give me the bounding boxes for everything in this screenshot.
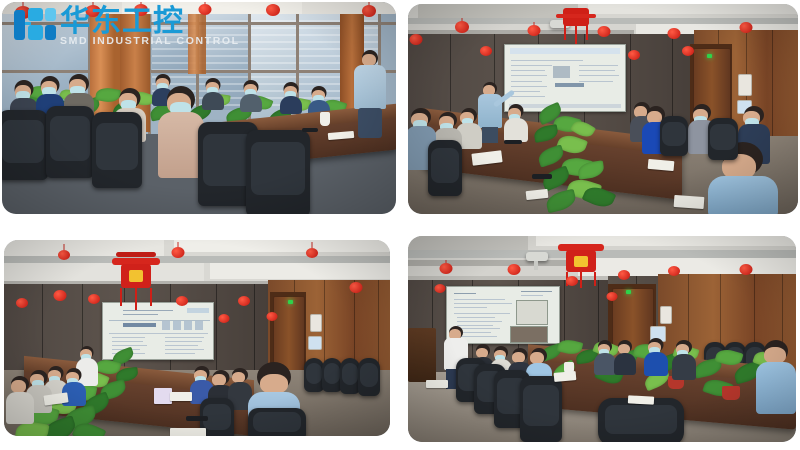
lantern-icon [348, 282, 364, 302]
lantern-icon [680, 46, 696, 66]
panel-bottom-left[interactable] [4, 240, 390, 436]
lantern-icon [408, 34, 424, 54]
lantern-icon [626, 50, 642, 70]
person [614, 340, 636, 374]
lantern-icon [56, 244, 72, 268]
lantern-icon [616, 270, 632, 290]
chandelier-decoration [554, 4, 598, 46]
panel-top-right-scene [408, 4, 798, 214]
microphone [302, 128, 318, 132]
office-chair [248, 408, 306, 436]
lantern-icon [506, 264, 522, 286]
lantern-icon [454, 18, 470, 40]
indicator-light [707, 54, 712, 58]
lantern-icon [216, 314, 232, 334]
lantern-icon [432, 284, 448, 304]
lantern-icon [236, 296, 252, 316]
wall-switch-plate[interactable] [660, 306, 672, 324]
document [170, 392, 192, 401]
photo-collage: 华东工控 SMD INDUSTRIAL CONTROL [0, 0, 800, 450]
person [6, 376, 34, 422]
wall-notice [308, 336, 322, 350]
document [426, 380, 448, 388]
lantern-icon [478, 46, 494, 66]
lantern-icon [604, 292, 620, 312]
cup [320, 112, 330, 126]
lantern-icon [666, 28, 682, 48]
document-stack [170, 428, 206, 436]
logo-chinese-name: 华东工控 [60, 6, 184, 38]
person [280, 82, 302, 112]
lantern-icon [14, 298, 30, 318]
standing-presenter [354, 50, 386, 138]
office-chair [2, 110, 48, 180]
panel-top-right[interactable] [408, 4, 798, 214]
indicator-light [626, 290, 631, 294]
lantern-icon [738, 264, 754, 284]
office-chair [598, 398, 684, 442]
podium [408, 328, 436, 382]
flower-pot [722, 386, 740, 400]
lantern-icon [564, 276, 580, 296]
lantern-icon [264, 312, 280, 332]
lantern-icon [596, 26, 612, 46]
office-chair [708, 118, 738, 160]
microphone [532, 174, 552, 179]
lantern-icon [170, 242, 186, 266]
lantern-icon [738, 22, 754, 42]
indicator-light [288, 300, 293, 304]
logo-mark-icon [14, 8, 56, 42]
document [648, 159, 675, 171]
office-chair [428, 140, 462, 196]
wall-switch-plate[interactable] [310, 314, 322, 332]
lantern-icon [360, 2, 378, 26]
person [504, 104, 528, 140]
person [594, 340, 616, 374]
panel-bottom-right[interactable] [408, 236, 796, 442]
lantern-icon [86, 294, 102, 314]
person [202, 78, 224, 108]
side-chair [322, 358, 342, 392]
person [672, 340, 696, 378]
side-chair [340, 358, 360, 394]
lantern-icon [304, 242, 320, 266]
office-chair [520, 376, 562, 442]
office-chair [46, 106, 94, 178]
microphone [504, 140, 522, 144]
slide-image [516, 300, 547, 324]
watermark-logo: 华东工控 SMD INDUSTRIAL CONTROL [14, 8, 204, 48]
panel-bottom-right-scene [408, 236, 796, 442]
lantern-icon [526, 22, 542, 44]
lantern-icon [52, 290, 68, 310]
document [674, 195, 705, 209]
lantern-icon [438, 260, 454, 282]
side-chair [304, 358, 324, 392]
wall-switch-plate[interactable] [738, 74, 752, 96]
person [240, 80, 262, 110]
cup [564, 362, 574, 374]
palace-lantern-decoration [112, 244, 160, 308]
office-chair [92, 112, 142, 188]
microphone [186, 416, 208, 421]
side-chair [358, 358, 380, 396]
office-chair [246, 130, 310, 214]
lantern-icon [174, 296, 190, 316]
person-foreground [756, 340, 796, 414]
lantern-icon [264, 4, 282, 28]
office-chair [660, 116, 688, 156]
projector [526, 252, 548, 261]
logo-english-name: SMD INDUSTRIAL CONTROL [60, 35, 240, 47]
person [644, 338, 668, 374]
document [628, 395, 654, 404]
lantern-icon [666, 266, 682, 286]
panel-bottom-left-scene [4, 240, 390, 436]
